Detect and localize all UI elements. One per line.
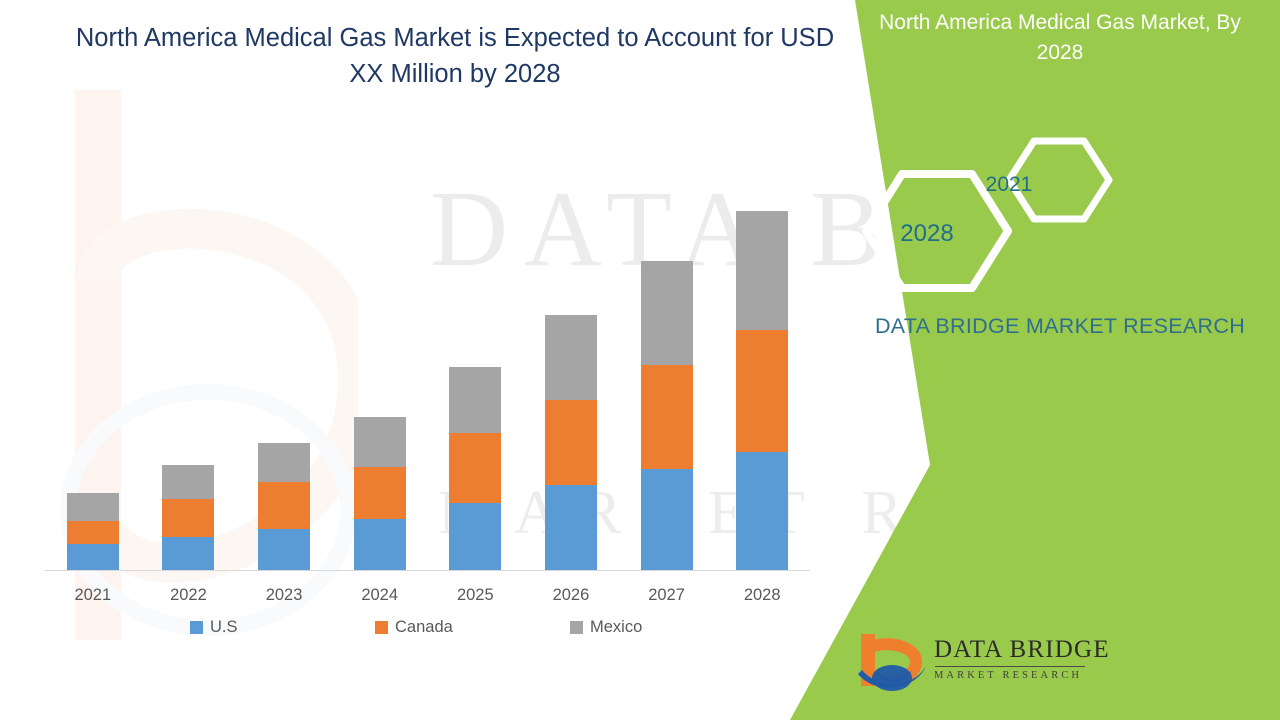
bar-segment-2021-us	[67, 544, 119, 570]
bar-2026	[545, 315, 597, 570]
bar-segment-2024-mexico	[354, 417, 406, 467]
panel-heading: North America Medical Gas Market, By 202…	[860, 8, 1260, 68]
x-axis-label-2021: 2021	[43, 586, 143, 605]
bar-segment-2027-mexico	[641, 261, 693, 365]
legend-swatch-icon	[570, 621, 583, 634]
logo-main-text: DATA BRIDGE	[934, 636, 1110, 664]
bar-segment-2026-canada	[545, 400, 597, 485]
x-axis-label-2028: 2028	[712, 586, 812, 605]
bar-segment-2022-us	[162, 537, 214, 570]
bar-segment-2024-us	[354, 519, 406, 570]
bar-segment-2025-mexico	[449, 367, 501, 433]
legend-swatch-icon	[190, 621, 203, 634]
bar-segment-2023-canada	[258, 482, 310, 529]
bar-segment-2024-canada	[354, 467, 406, 519]
bar-segment-2027-canada	[641, 365, 693, 469]
green-panel-content: North America Medical Gas Market, By 202…	[840, 0, 1280, 720]
legend-item-us[interactable]: U.S	[190, 618, 238, 637]
legend-item-canada[interactable]: Canada	[375, 618, 453, 637]
bar-2023	[258, 443, 310, 570]
company-logo: DATA BRIDGE MARKET RESEARCH	[852, 628, 1112, 708]
bar-2024	[354, 417, 406, 570]
legend-item-mexico[interactable]: Mexico	[570, 618, 642, 637]
hexagon-outlines-icon	[840, 120, 1280, 300]
bar-segment-2023-mexico	[258, 443, 310, 482]
x-axis-line	[45, 570, 810, 571]
x-axis-label-2022: 2022	[138, 586, 238, 605]
bar-segment-2022-canada	[162, 499, 214, 537]
legend-swatch-icon	[375, 621, 388, 634]
bar-segment-2025-canada	[449, 433, 501, 503]
legend-label: U.S	[210, 618, 238, 637]
chart-legend: U.SCanadaMexico	[45, 618, 810, 642]
bar-2021	[67, 493, 119, 570]
x-axis-label-2027: 2027	[617, 586, 717, 605]
bar-2025	[449, 367, 501, 570]
x-axis-label-2024: 2024	[330, 586, 430, 605]
stacked-bar-chart: 20212022202320242025202620272028	[0, 0, 960, 720]
bar-segment-2028-us	[736, 452, 788, 570]
infographic-root: DATA BRIDGE MARKET RESEARCH North Americ…	[0, 0, 1280, 720]
bar-segment-2028-canada	[736, 330, 788, 452]
bar-segment-2021-mexico	[67, 493, 119, 521]
bar-segment-2025-us	[449, 503, 501, 570]
bar-segment-2021-canada	[67, 521, 119, 544]
logo-sub-text: MARKET RESEARCH	[934, 670, 1110, 681]
logo-wordmark: DATA BRIDGE MARKET RESEARCH	[934, 636, 1110, 681]
legend-label: Canada	[395, 618, 453, 637]
hexagon-label-2021: 2021	[944, 173, 1074, 197]
databridge-logo-mark-icon	[854, 630, 934, 702]
bar-segment-2022-mexico	[162, 465, 214, 499]
bar-2028	[736, 211, 788, 570]
bar-segment-2026-us	[545, 485, 597, 570]
bar-segment-2028-mexico	[736, 211, 788, 330]
bar-segment-2027-us	[641, 469, 693, 570]
legend-label: Mexico	[590, 618, 642, 637]
hexagon-label-2028: 2028	[852, 220, 1002, 248]
logo-divider	[935, 666, 1085, 667]
hexagon-group: 2028 2021	[840, 120, 1280, 300]
chart-panel: North America Medical Gas Market is Expe…	[0, 0, 960, 720]
bar-2022	[162, 465, 214, 570]
x-axis-label-2023: 2023	[234, 586, 334, 605]
brand-name: DATA BRIDGE MARKET RESEARCH	[860, 310, 1260, 342]
bar-segment-2026-mexico	[545, 315, 597, 400]
x-axis-label-2025: 2025	[425, 586, 525, 605]
bar-2027	[641, 261, 693, 570]
x-axis-label-2026: 2026	[521, 586, 621, 605]
bar-segment-2023-us	[258, 529, 310, 570]
